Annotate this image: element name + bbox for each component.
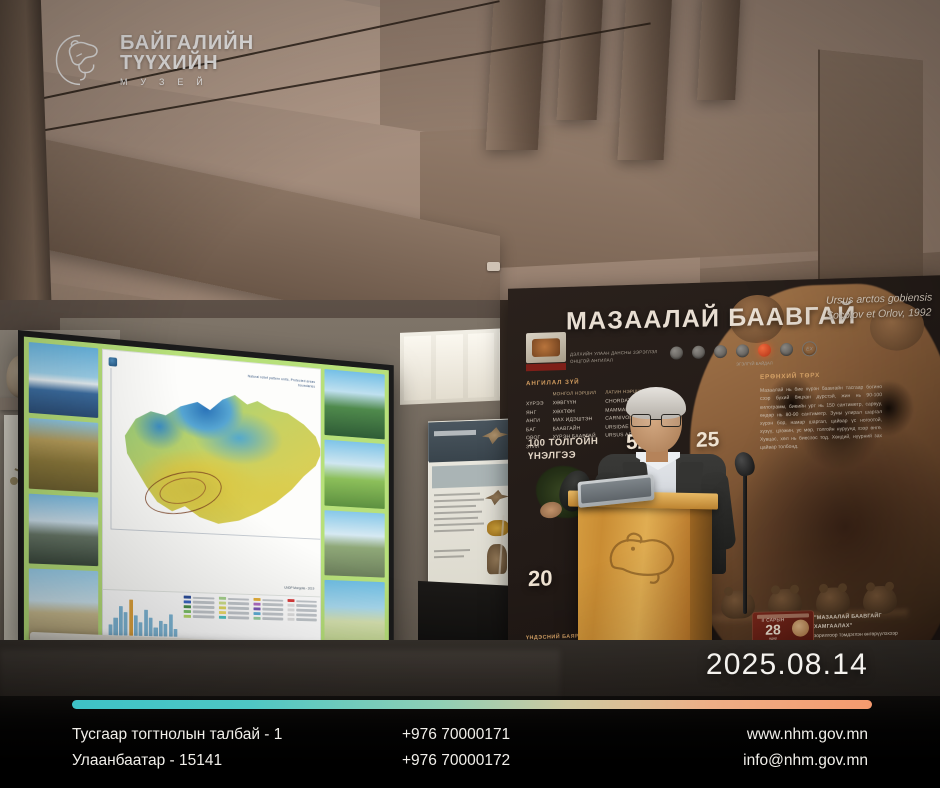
- status-dot: [714, 345, 727, 358]
- slide-photo: [324, 439, 384, 508]
- footer-bar: Тусгаар тогтнолын талбай - 1 Улаанбаатар…: [0, 696, 940, 788]
- status-dot: [780, 343, 793, 356]
- mongolia-map: Natural relief pattern units, Protected …: [102, 349, 321, 646]
- undp-logo-icon: [109, 357, 117, 367]
- map-title: Natural relief pattern units, Protected …: [231, 373, 315, 390]
- poster-title: МАЗААЛАЙ БААВГАЙ: [566, 301, 856, 336]
- address-line-1: Тусгаар тогтнолын талбай - 1: [72, 722, 402, 748]
- slide-photo-column-right: [324, 369, 384, 647]
- email-link[interactable]: info@nhm.gov.mn: [702, 748, 868, 774]
- map-credit: UNDP Mongolia - 2019: [284, 586, 314, 591]
- status-dot-extinct: EX: [802, 341, 817, 356]
- logo-line-1: БАЙГАЛИЙН: [120, 33, 254, 53]
- microphone-stand: [743, 474, 747, 614]
- legend-group: [288, 599, 317, 642]
- footer-contact-info: Тусгаар тогтнолын талбай - 1 Улаанбаатар…: [0, 722, 940, 773]
- status-dot: [692, 346, 705, 359]
- slide-photo: [29, 418, 98, 493]
- museum-logo-text: БАЙГАЛИЙН ТҮҮХИЙН М У З Е Й: [120, 33, 254, 87]
- legend-group: [184, 596, 215, 640]
- panel-band: [432, 464, 512, 489]
- taxonomy-header: АНГИЛАЛ ЗҮЙ: [526, 374, 716, 387]
- phone-2: +976 70000172: [402, 748, 702, 774]
- footer-phones: +976 70000171 +976 70000172: [402, 722, 702, 773]
- status-dot: [736, 344, 749, 357]
- bear-cub: [721, 590, 755, 619]
- slide-photo: [324, 510, 384, 578]
- ceiling-sensor: [487, 262, 500, 271]
- falcon-info-panel: [428, 418, 514, 601]
- microphone: [742, 452, 748, 602]
- logo-line-2: ТҮҮХИЙН: [120, 53, 254, 73]
- general-description: ЕРӨНХИЙ ТӨРХ Мазаалай нь бие хүрэн баавг…: [760, 369, 882, 452]
- legend-group: [254, 598, 284, 641]
- panel-header: [429, 420, 513, 463]
- address-line-2: Улаанбаатар - 15141: [72, 748, 402, 774]
- slide-photo: [324, 369, 384, 439]
- speaker-eyeglasses: [631, 414, 681, 427]
- museum-logo: БАЙГАЛИЙН ТҮҮХИЙН М У З Е Й: [52, 32, 254, 88]
- footer-gradient-line: [72, 700, 872, 709]
- museum-bear-emblem: [598, 525, 684, 587]
- bear-cub: [863, 586, 897, 615]
- date-stamp: 2025.08.14: [706, 648, 868, 682]
- logo-line-3: М У З Е Й: [120, 78, 254, 87]
- slide-photo: [324, 580, 384, 647]
- museum-anniversary-badge: [526, 332, 566, 363]
- photo-scene: Natural relief pattern units, Protected …: [0, 0, 940, 788]
- footer-web: www.nhm.gov.mn info@nhm.gov.mn: [702, 722, 868, 773]
- slide-content: Natural relief pattern units, Protected …: [24, 337, 389, 652]
- slide-photo: [29, 342, 98, 418]
- projection-screen: Natural relief pattern units, Protected …: [18, 330, 394, 657]
- ceiling-beam: [697, 0, 741, 100]
- redlist-caption: ДЭЛХИЙН УЛААН ДАНСНЫ ЗЭРЭГЛЭЛОНЦГОЙ АНГИ…: [570, 348, 662, 365]
- badge-caption-bar: [526, 363, 566, 371]
- poster-latin-name: Ursus arctos gobiensis Socolov et Orlov,…: [826, 290, 940, 324]
- ceiling-beam: [486, 0, 546, 150]
- footer-address: Тусгаар тогтнолын талбай - 1 Улаанбаатар…: [72, 722, 402, 773]
- phone-1: +976 70000171: [402, 722, 702, 748]
- bear-cub: [816, 587, 850, 616]
- slide-photo: [29, 493, 98, 566]
- wall-panel-right: [818, 49, 923, 290]
- status-dot-active: [758, 344, 771, 357]
- status-dot: [670, 346, 683, 359]
- ceiling-beam: [557, 0, 604, 120]
- screen-surface: Natural relief pattern units, Protected …: [24, 337, 389, 652]
- slide-photo-column-left: [29, 342, 98, 641]
- badge-day: 28: [757, 621, 789, 636]
- bear-paw-icon: [792, 619, 809, 637]
- bear-head-logo-icon: [52, 32, 108, 88]
- legend-group: [219, 597, 249, 641]
- slide-bar-chart: [107, 591, 179, 640]
- badge-top-strip: [757, 613, 809, 619]
- mongolia-landmass: [116, 376, 321, 533]
- slide-photo: [29, 569, 98, 641]
- population-count: 20: [528, 565, 552, 592]
- website-link[interactable]: www.nhm.gov.mn: [702, 722, 868, 748]
